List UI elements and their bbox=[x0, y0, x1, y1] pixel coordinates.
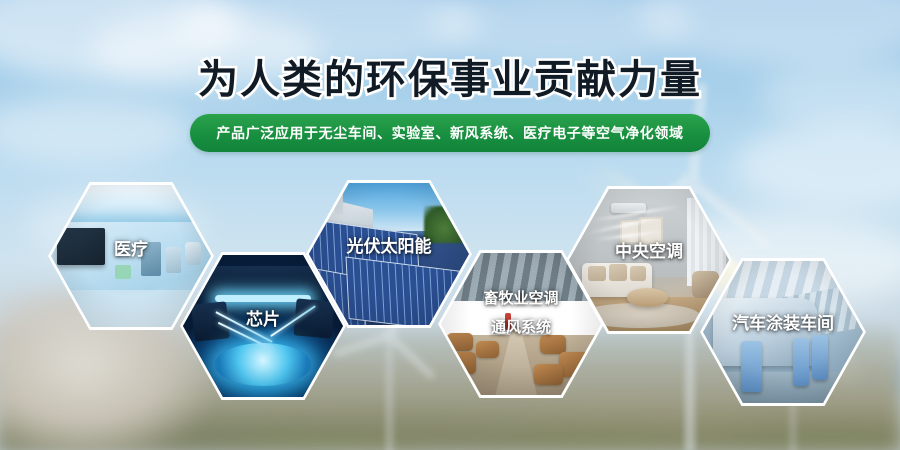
promo-banner: 为人类的环保事业贡献力量 产品广泛应用于无尘车间、实验室、新风系统、医疗电子等空… bbox=[0, 0, 900, 450]
headline-block: 为人类的环保事业贡献力量 产品广泛应用于无尘车间、实验室、新风系统、医疗电子等空… bbox=[0, 60, 900, 152]
cloud-decoration bbox=[640, 0, 900, 65]
subtitle-badge: 产品广泛应用于无尘车间、实验室、新风系统、医疗电子等空气净化领域 bbox=[190, 114, 709, 152]
cloud-decoration bbox=[430, 0, 690, 67]
page-title: 为人类的环保事业贡献力量 bbox=[198, 60, 702, 100]
